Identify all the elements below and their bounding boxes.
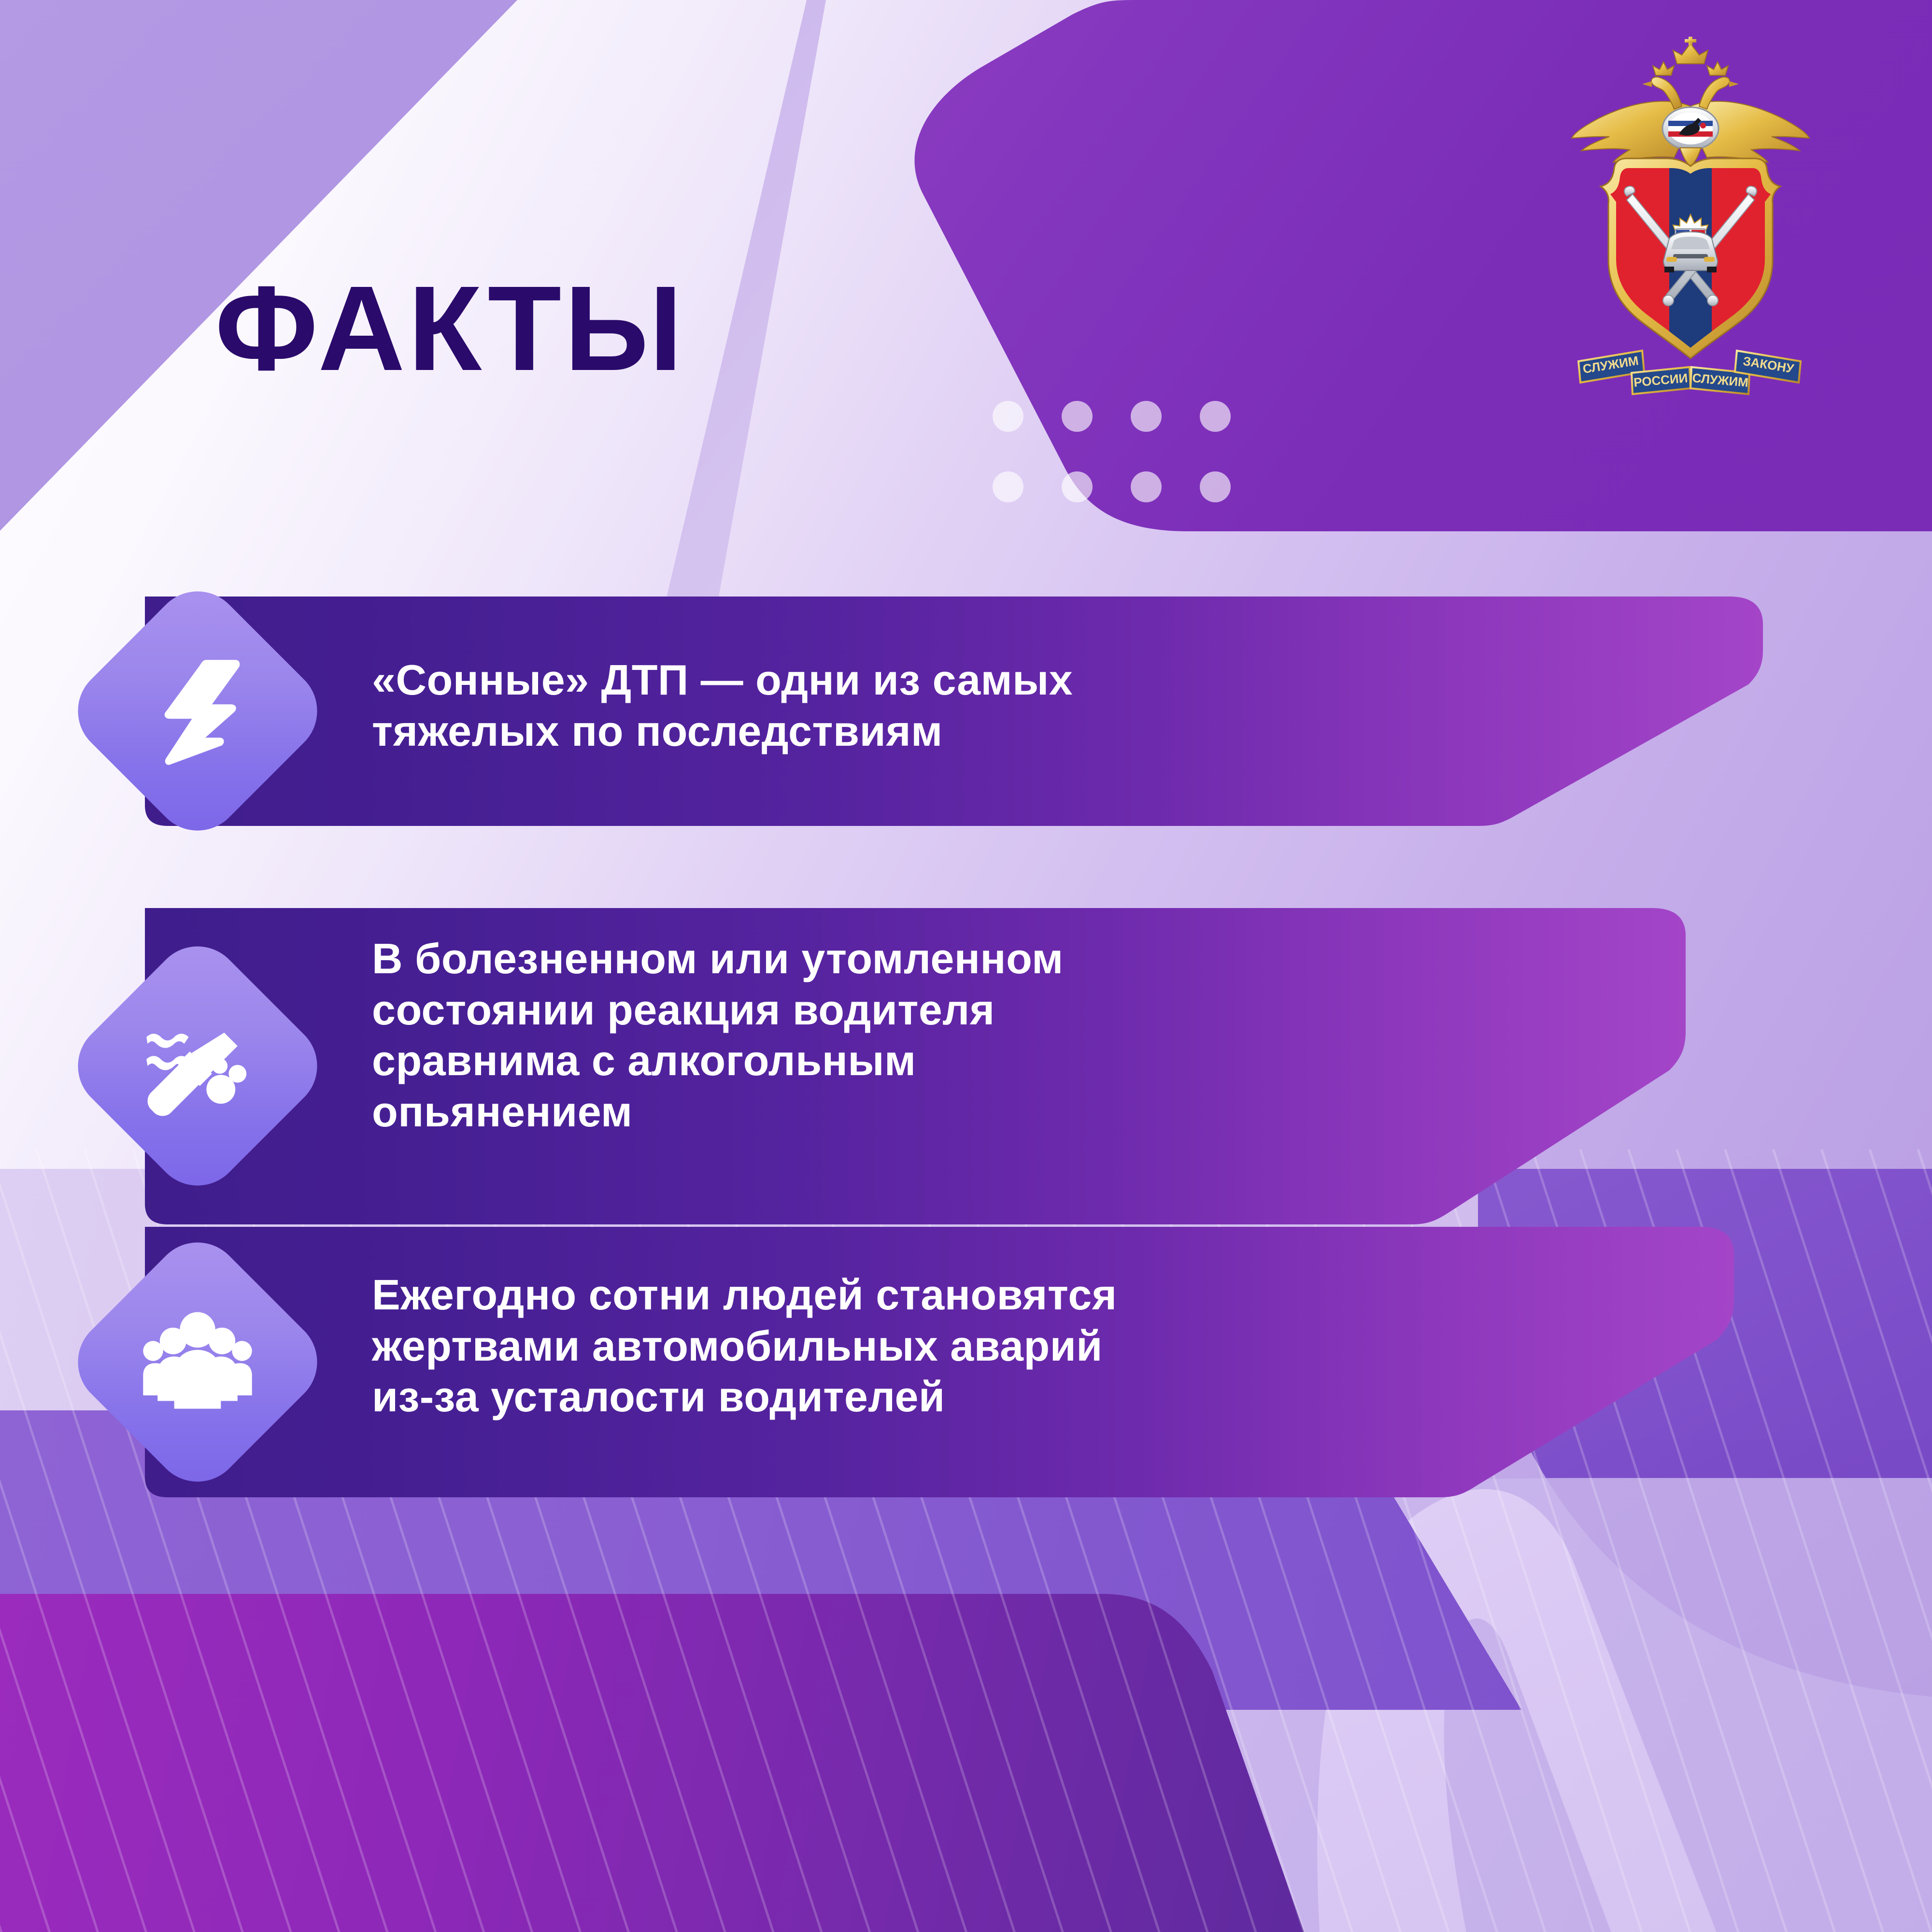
poster-canvas: ФАКТЫ	[0, 0, 1932, 1932]
fact-item: «Сонные» ДТП — одни из самых тяжелых по …	[145, 597, 1763, 826]
group-of-people-icon	[142, 1307, 253, 1418]
fact-item: Ежегодно сотни людей становятся жертвами…	[145, 1227, 1734, 1497]
fact-text: В болезненном или утомленном состоянии р…	[372, 933, 1492, 1137]
lightning-bolt-icon	[142, 655, 253, 767]
fact-text: Ежегодно сотни людей становятся жертвами…	[372, 1269, 1541, 1422]
facts-list: «Сонные» ДТП — одни из самых тяжелых по …	[0, 0, 1932, 1932]
fact-item: В болезненном или утомленном состоянии р…	[145, 908, 1686, 1224]
alcohol-bottle-icon	[142, 1010, 253, 1122]
fact-text: «Сонные» ДТП — одни из самых тяжелых по …	[372, 654, 1531, 756]
